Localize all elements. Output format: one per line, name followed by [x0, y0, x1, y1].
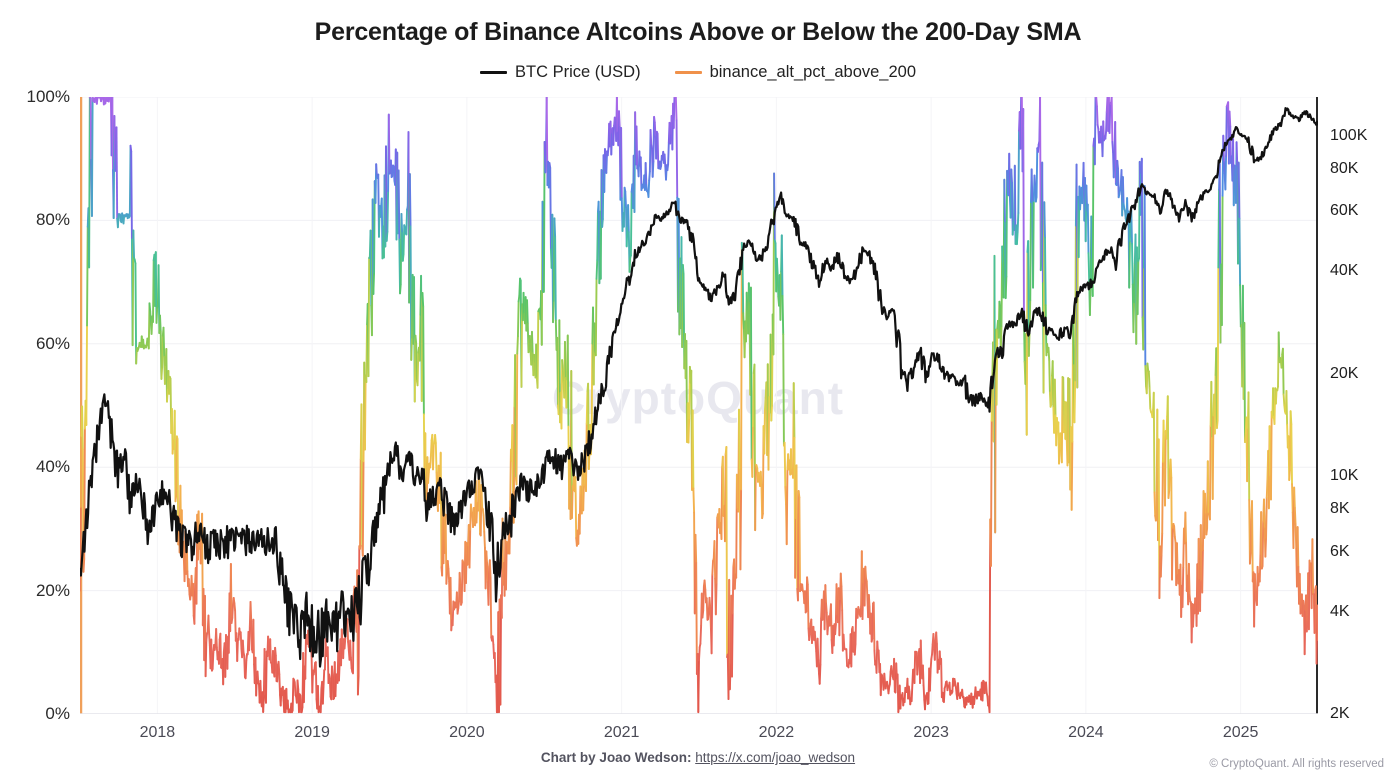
- alt-pct-line-segment: [190, 592, 191, 600]
- alt-pct-line-segment: [730, 664, 731, 690]
- alt-pct-line-segment: [648, 180, 649, 197]
- alt-pct-line-segment: [743, 313, 744, 330]
- alt-pct-line-segment: [1260, 554, 1261, 581]
- alt-pct-line-segment: [1199, 539, 1200, 580]
- alt-pct-line-segment: [231, 564, 232, 623]
- alt-pct-line-segment: [799, 497, 800, 591]
- alt-pct-line-segment: [935, 641, 936, 660]
- alt-pct-line-segment: [1051, 376, 1052, 405]
- alt-pct-line-segment: [865, 567, 866, 579]
- alt-pct-line-segment: [358, 676, 359, 695]
- alt-pct-line-segment: [116, 127, 117, 218]
- legend-label-btc-price: BTC Price (USD): [515, 63, 641, 82]
- alt-pct-line-segment: [406, 210, 407, 235]
- alt-pct-line-segment: [1317, 606, 1318, 640]
- alt-pct-line-segment: [563, 369, 564, 382]
- alt-pct-line-segment: [1112, 142, 1113, 152]
- alt-pct-line-segment: [275, 648, 276, 656]
- alt-pct-line-segment: [912, 685, 913, 701]
- alt-pct-line-segment: [527, 300, 528, 324]
- alt-pct-line-segment: [802, 585, 803, 591]
- alt-pct-line-segment: [206, 633, 207, 640]
- alt-pct-line-segment: [133, 230, 134, 257]
- alt-pct-line-segment: [1088, 205, 1089, 254]
- alt-pct-line-segment: [739, 410, 740, 470]
- alt-pct-line-segment: [1224, 162, 1225, 174]
- alt-pct-line-segment: [1133, 302, 1134, 332]
- alt-pct-line-segment: [771, 406, 772, 421]
- alt-pct-line-segment: [1053, 361, 1054, 408]
- alt-pct-line-segment: [209, 634, 210, 646]
- alt-pct-line-segment: [997, 328, 998, 404]
- alt-pct-line-segment: [1091, 216, 1092, 259]
- alt-pct-line-segment: [223, 652, 224, 685]
- alt-pct-line-segment: [1138, 261, 1139, 314]
- alt-pct-line-segment: [1270, 426, 1271, 476]
- alt-pct-line-segment: [435, 435, 436, 443]
- alt-pct-line-segment: [373, 273, 374, 294]
- alt-pct-line-segment: [1237, 142, 1238, 167]
- alt-pct-line-segment: [1247, 428, 1248, 481]
- alt-pct-line-segment: [399, 170, 400, 239]
- alt-pct-line-segment: [273, 651, 274, 671]
- alt-pct-line-segment: [716, 583, 717, 614]
- legend-item-alt-pct[interactable]: binance_alt_pct_above_200: [675, 63, 916, 82]
- alt-pct-line-segment: [243, 641, 244, 652]
- alt-pct-line-segment: [985, 686, 986, 693]
- alt-pct-line-segment: [423, 307, 424, 414]
- alt-pct-line-segment: [460, 573, 461, 585]
- alt-pct-line-segment: [708, 611, 709, 620]
- alt-pct-line-segment: [167, 388, 168, 402]
- alt-pct-line-segment: [339, 662, 340, 680]
- alt-pct-line-segment: [1045, 238, 1046, 305]
- alt-pct-line-segment: [1217, 420, 1218, 427]
- alt-pct-line-segment: [703, 610, 704, 617]
- alt-pct-line-segment: [1252, 501, 1253, 581]
- alt-pct-line-segment: [360, 459, 361, 549]
- alt-pct-line-segment: [149, 303, 150, 311]
- alt-pct-line-segment: [596, 279, 597, 355]
- alt-pct-line-segment: [249, 626, 250, 650]
- alt-pct-line-segment: [625, 192, 626, 208]
- alt-pct-line-segment: [483, 509, 484, 515]
- alt-pct-line-segment: [931, 659, 932, 670]
- alt-pct-line-segment: [921, 640, 922, 665]
- alt-pct-line-segment: [153, 260, 154, 322]
- alt-pct-line-segment: [1215, 375, 1216, 434]
- page-title: Percentage of Binance Altcoins Above or …: [0, 18, 1396, 47]
- alt-pct-line-segment: [532, 332, 533, 353]
- alt-pct-line-segment: [1037, 148, 1038, 197]
- alt-pct-line-segment: [1147, 364, 1148, 371]
- alt-pct-line-segment: [923, 665, 924, 685]
- y-right-tick-20K: 20K: [1330, 365, 1390, 383]
- alt-pct-line-segment: [1118, 169, 1119, 198]
- alt-pct-line-segment: [89, 97, 90, 267]
- alt-pct-line-segment: [131, 151, 132, 239]
- alt-pct-line-segment: [1114, 159, 1115, 178]
- alt-pct-line-segment: [268, 637, 269, 646]
- alt-pct-line-segment: [1295, 508, 1296, 524]
- alt-pct-line-segment: [538, 311, 539, 387]
- y-right-tick-2K: 2K: [1330, 705, 1390, 723]
- alt-pct-line-segment: [1145, 366, 1146, 387]
- alt-pct-line-segment: [575, 477, 576, 538]
- alt-pct-line-segment: [97, 97, 98, 104]
- alt-pct-line-segment: [810, 624, 811, 635]
- alt-pct-line-segment: [376, 164, 377, 176]
- alt-pct-line-segment: [976, 687, 977, 695]
- alt-pct-line-segment: [649, 171, 650, 180]
- legend-item-btc-price[interactable]: BTC Price (USD): [480, 63, 641, 82]
- alt-pct-line-segment: [216, 629, 217, 647]
- alt-pct-line-segment: [1185, 512, 1186, 542]
- alt-pct-line-segment: [1225, 156, 1226, 189]
- alt-pct-line-segment: [1143, 268, 1144, 350]
- x-tick-2019: 2019: [272, 724, 352, 742]
- alt-pct-line-segment: [787, 469, 788, 544]
- alt-pct-line-segment: [244, 656, 245, 677]
- alt-pct-line-segment: [795, 518, 796, 578]
- alt-pct-line-segment: [193, 584, 194, 616]
- alt-pct-line-segment: [1038, 145, 1039, 152]
- alt-pct-line-segment: [241, 632, 242, 649]
- alt-pct-line-segment: [164, 328, 165, 357]
- y-right-tick-4K: 4K: [1330, 603, 1390, 621]
- alt-pct-line-segment: [251, 602, 252, 621]
- alt-pct-line-segment: [1162, 533, 1163, 555]
- alt-pct-line-segment: [1132, 244, 1133, 285]
- alt-pct-line-segment: [305, 636, 306, 679]
- alt-pct-line-segment: [898, 706, 899, 712]
- alt-pct-line-segment: [342, 629, 343, 644]
- alt-pct-line-segment: [1292, 484, 1293, 512]
- alt-pct-line-segment: [1161, 556, 1162, 577]
- alt-pct-line-segment: [856, 609, 857, 644]
- alt-pct-line-segment: [279, 674, 280, 695]
- alt-pct-line-segment: [118, 214, 119, 227]
- alt-pct-line-segment: [479, 477, 480, 534]
- alt-pct-line-segment: [1226, 106, 1227, 156]
- alt-pct-line-segment: [608, 147, 609, 155]
- alt-pct-line-segment: [1032, 169, 1033, 202]
- alt-pct-line-segment: [1117, 161, 1118, 169]
- alt-pct-line-segment: [1162, 462, 1163, 534]
- y-right-tick-10K: 10K: [1330, 467, 1390, 485]
- alt-pct-line-segment: [732, 613, 733, 676]
- plot-area: [80, 97, 1318, 714]
- alt-pct-line-segment: [491, 578, 492, 638]
- alt-pct-line-segment: [1240, 285, 1241, 326]
- footer-credit: Chart by Joao Wedson: https://x.com/joao…: [0, 750, 1396, 765]
- x-tick-2020: 2020: [427, 724, 507, 742]
- alt-pct-line-segment: [565, 342, 566, 378]
- alt-pct-line-segment: [799, 491, 800, 497]
- alt-pct-line-segment: [783, 334, 784, 445]
- alt-pct-line-segment: [1166, 416, 1167, 438]
- y-right-tick-8K: 8K: [1330, 500, 1390, 518]
- alt-pct-line-segment: [1049, 360, 1050, 392]
- alt-pct-line-segment: [677, 120, 678, 197]
- alt-pct-line-segment: [232, 604, 233, 617]
- alt-pct-line-segment: [714, 541, 715, 579]
- alt-pct-line-segment: [1183, 568, 1184, 607]
- alt-pct-line-segment: [400, 284, 401, 293]
- alt-pct-line-segment: [1154, 393, 1155, 493]
- alt-pct-line-segment: [1093, 146, 1094, 296]
- alt-pct-line-segment: [580, 486, 581, 494]
- alt-pct-line-segment: [534, 355, 535, 363]
- alt-pct-line-segment: [884, 674, 885, 682]
- alt-pct-line-segment: [279, 662, 280, 674]
- alt-pct-line-segment: [785, 443, 786, 487]
- alt-pct-line-segment: [458, 601, 459, 608]
- alt-pct-line-segment: [1213, 415, 1214, 499]
- alt-pct-line-segment: [528, 339, 529, 352]
- alt-pct-line-segment: [84, 559, 85, 572]
- alt-pct-line-segment: [348, 642, 349, 650]
- alt-pct-line-segment: [860, 606, 861, 616]
- alt-pct-line-segment: [430, 456, 431, 468]
- alt-pct-line-segment: [387, 232, 388, 241]
- alt-pct-line-segment: [991, 421, 992, 566]
- alt-pct-line-segment: [351, 657, 352, 668]
- alt-pct-line-segment: [1110, 103, 1111, 133]
- alt-pct-line-segment: [387, 191, 388, 232]
- alt-pct-line-segment: [1169, 468, 1170, 490]
- alt-pct-line-segment: [1230, 112, 1231, 127]
- alt-pct-line-segment: [276, 656, 277, 681]
- alt-pct-line-segment: [1296, 524, 1297, 549]
- alt-pct-line-segment: [774, 173, 775, 240]
- alt-pct-line-segment: [1202, 550, 1203, 592]
- alt-pct-line-segment: [562, 360, 563, 369]
- alt-pct-line-segment: [592, 344, 593, 437]
- alt-pct-line-segment: [925, 696, 926, 709]
- alt-pct-line-segment: [568, 335, 569, 426]
- alt-pct-line-segment: [345, 638, 346, 648]
- alt-pct-line-segment: [977, 692, 978, 699]
- alt-pct-line-segment: [237, 639, 238, 661]
- alt-pct-line-segment: [1165, 431, 1166, 506]
- alt-pct-line-segment: [431, 440, 432, 455]
- credit-link[interactable]: https://x.com/joao_wedson: [695, 750, 855, 765]
- alt-pct-line-segment: [1283, 349, 1284, 395]
- alt-pct-line-segment: [816, 641, 817, 651]
- alt-pct-line-segment: [234, 603, 235, 610]
- alt-pct-line-segment: [471, 505, 472, 513]
- alt-pct-line-segment: [1174, 526, 1175, 537]
- alt-pct-line-segment: [486, 551, 487, 562]
- alt-pct-line-segment: [365, 375, 366, 449]
- alt-pct-line-segment: [467, 545, 468, 565]
- alt-pct-line-segment: [1011, 170, 1012, 183]
- alt-pct-line-segment: [1106, 112, 1107, 132]
- alt-pct-line-segment: [812, 633, 813, 643]
- alt-pct-line-segment: [1089, 253, 1090, 281]
- alt-pct-line-segment: [283, 687, 284, 701]
- alt-pct-line-segment: [733, 566, 734, 613]
- alt-pct-line-segment: [1023, 109, 1024, 313]
- alt-pct-line-segment: [87, 227, 88, 326]
- alt-pct-line-segment: [631, 192, 632, 256]
- alt-pct-line-segment: [401, 214, 402, 233]
- alt-pct-line-segment: [361, 404, 362, 546]
- alt-pct-line-segment: [512, 425, 513, 492]
- alt-pct-line-segment: [490, 560, 491, 577]
- alt-pct-line-segment: [695, 535, 696, 563]
- x-tick-2021: 2021: [582, 724, 662, 742]
- alt-pct-line-segment: [1249, 392, 1250, 500]
- alt-pct-line-segment: [823, 609, 824, 620]
- alt-pct-line-segment: [1218, 190, 1219, 268]
- alt-pct-line-segment: [1273, 388, 1274, 416]
- alt-pct-line-segment: [316, 662, 317, 699]
- alt-pct-line-segment: [962, 690, 963, 698]
- alt-pct-line-segment: [1309, 561, 1310, 630]
- y-left-tick-80pct: 80%: [6, 210, 70, 230]
- alt-pct-line-segment: [92, 97, 93, 216]
- alt-pct-line-segment: [1172, 528, 1173, 580]
- alt-pct-line-segment: [545, 155, 546, 173]
- alt-pct-line-segment: [1072, 442, 1073, 510]
- alt-pct-line-segment: [1265, 538, 1266, 557]
- alt-pct-line-segment: [818, 660, 819, 674]
- alt-pct-line-segment: [777, 259, 778, 274]
- alt-pct-line-segment: [493, 636, 494, 644]
- alt-pct-line-segment: [162, 336, 163, 368]
- alt-pct-line-segment: [1208, 461, 1209, 513]
- alt-pct-line-segment: [797, 465, 798, 589]
- alt-pct-line-segment: [586, 424, 587, 491]
- alt-pct-line-segment: [1134, 264, 1135, 303]
- alt-pct-line-segment: [597, 260, 598, 279]
- alt-pct-line-segment: [863, 582, 864, 619]
- alt-pct-line-segment: [81, 436, 82, 507]
- alt-pct-line-segment: [844, 635, 845, 648]
- alt-pct-line-segment: [1255, 574, 1256, 591]
- y-left-tick-0pct: 0%: [6, 704, 70, 724]
- alt-pct-line-segment: [1251, 518, 1252, 552]
- alt-pct-line-segment: [201, 542, 202, 564]
- alt-pct-line-segment: [778, 273, 779, 296]
- alt-pct-line-segment: [637, 126, 638, 168]
- alt-pct-line-segment: [566, 380, 567, 408]
- alt-pct-line-segment: [550, 168, 551, 250]
- alt-pct-line-segment: [448, 561, 449, 569]
- alt-pct-line-segment: [755, 465, 756, 530]
- alt-pct-line-segment: [1042, 163, 1043, 284]
- alt-pct-line-segment: [251, 621, 252, 649]
- y-right-tick-80K: 80K: [1330, 160, 1390, 178]
- alt-pct-line-segment: [1018, 131, 1019, 213]
- alt-pct-line-segment: [958, 683, 959, 695]
- alt-pct-line-segment: [764, 409, 765, 453]
- alt-pct-line-segment: [161, 367, 162, 378]
- alt-pct-line-segment: [936, 632, 937, 643]
- alt-pct-line-segment: [1154, 492, 1155, 515]
- alt-pct-line-segment: [1201, 525, 1202, 581]
- alt-pct-line-segment: [470, 530, 471, 568]
- alt-pct-line-segment: [332, 666, 333, 676]
- alt-pct-line-segment: [410, 174, 411, 226]
- alt-pct-line-segment: [1177, 543, 1178, 575]
- alt-pct-line-segment: [350, 641, 351, 658]
- alt-pct-line-segment: [611, 133, 612, 155]
- alt-pct-line-segment: [752, 426, 753, 477]
- alt-pct-line-segment: [555, 237, 556, 320]
- alt-pct-line-segment: [873, 602, 874, 650]
- alt-pct-line-segment: [837, 584, 838, 615]
- alt-pct-line-segment: [260, 681, 261, 697]
- alt-pct-line-segment: [726, 447, 727, 657]
- alt-pct-line-segment: [1266, 498, 1267, 538]
- alt-pct-line-segment: [827, 626, 828, 635]
- alt-pct-line-segment: [651, 130, 652, 145]
- alt-pct-line-segment: [368, 258, 369, 376]
- alt-pct-line-segment: [839, 599, 840, 635]
- alt-pct-line-segment: [293, 679, 294, 711]
- alt-pct-line-segment: [1210, 426, 1211, 520]
- alt-pct-line-segment: [213, 652, 214, 669]
- alt-pct-line-segment: [258, 672, 259, 684]
- alt-pct-line-segment: [403, 254, 404, 261]
- alt-pct-line-segment: [835, 625, 836, 635]
- alt-pct-line-segment: [930, 670, 931, 690]
- alt-pct-line-segment: [1034, 176, 1035, 186]
- alt-pct-line-segment: [1055, 380, 1056, 416]
- alt-pct-line-segment: [721, 467, 722, 539]
- alt-pct-line-segment: [1006, 277, 1007, 299]
- alt-pct-line-segment: [1276, 390, 1277, 404]
- alt-pct-line-segment: [627, 226, 628, 246]
- series-btc-price: [80, 108, 1318, 666]
- alt-pct-line-segment: [1115, 122, 1116, 184]
- alt-pct-line-segment: [554, 218, 555, 237]
- alt-pct-line-segment: [740, 489, 741, 569]
- alt-pct-line-segment: [484, 532, 485, 548]
- alt-pct-line-segment: [841, 574, 842, 587]
- alt-pct-line-segment: [1289, 470, 1290, 480]
- alt-pct-line-segment: [1222, 196, 1223, 325]
- alt-pct-line-segment: [747, 293, 748, 311]
- y-left-tick-20pct: 20%: [6, 581, 70, 601]
- alt-pct-line-segment: [914, 652, 915, 683]
- alt-pct-line-segment: [428, 472, 429, 483]
- alt-pct-line-segment: [194, 584, 195, 624]
- alt-pct-line-segment: [707, 598, 708, 620]
- alt-pct-line-segment: [699, 647, 700, 660]
- alt-pct-line-segment: [658, 134, 659, 168]
- alt-pct-line-segment: [1284, 394, 1285, 405]
- alt-pct-line-segment: [653, 162, 654, 177]
- alt-pct-line-segment: [1164, 421, 1165, 463]
- alt-pct-line-segment: [484, 515, 485, 531]
- alt-pct-line-segment: [943, 688, 944, 702]
- alt-pct-line-segment: [1190, 595, 1191, 602]
- y-right-tick-6K: 6K: [1330, 543, 1390, 561]
- alt-pct-line-segment: [1150, 388, 1151, 408]
- alt-pct-line-segment: [1095, 97, 1096, 164]
- alt-pct-line-segment: [617, 97, 618, 133]
- alt-pct-line-segment: [189, 579, 190, 594]
- alt-pct-line-segment: [524, 293, 525, 314]
- y-left-tick-60pct: 60%: [6, 334, 70, 354]
- alt-pct-line-segment: [917, 666, 918, 675]
- alt-pct-line-segment: [646, 163, 647, 185]
- alt-pct-line-segment: [688, 418, 689, 442]
